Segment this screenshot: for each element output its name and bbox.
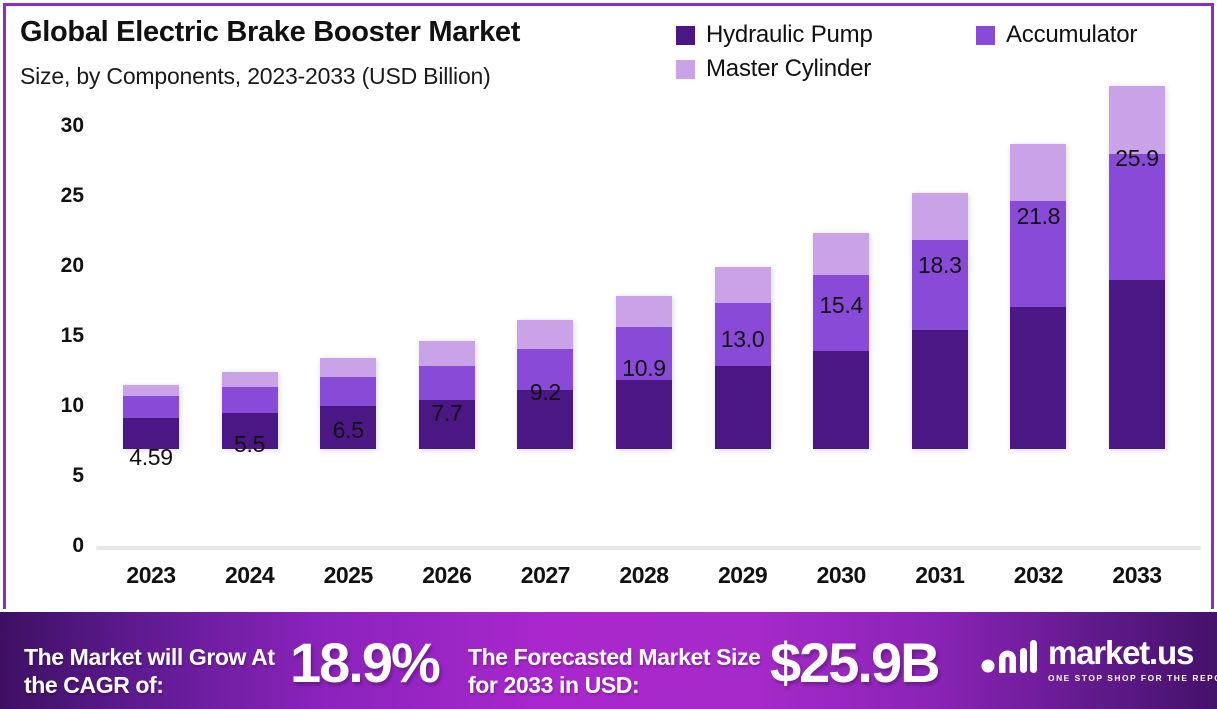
stacked-bar[interactable] (1109, 86, 1165, 449)
bar-value-label: 25.9 (1115, 145, 1159, 172)
bar-segment[interactable] (715, 267, 771, 303)
forecast-caption: The Forecasted Market Size for 2033 in U… (468, 643, 768, 699)
bar-value-label: 10.9 (622, 355, 666, 382)
bar-group[interactable] (1010, 144, 1066, 449)
bar-segment[interactable] (320, 358, 376, 377)
bar-segment[interactable] (912, 193, 968, 240)
bar-value-label: 9.2 (530, 379, 561, 406)
bar-segment[interactable] (517, 320, 573, 349)
bar-value-label: 13.0 (721, 326, 765, 353)
bar-segment[interactable] (1010, 144, 1066, 201)
bar-segment[interactable] (813, 233, 869, 275)
y-axis-tick: 25 (61, 184, 84, 208)
stacked-bar-chart: 0510152025304.5920235.520246.520257.7202… (0, 0, 1217, 612)
bar-segment[interactable] (123, 385, 179, 396)
bar-group[interactable] (1109, 86, 1165, 449)
bar-segment[interactable] (813, 351, 869, 449)
bar-segment[interactable] (419, 366, 475, 400)
y-axis-tick: 5 (72, 464, 84, 488)
bar-group[interactable] (912, 193, 968, 449)
x-axis-tick: 2033 (1077, 562, 1197, 589)
logo-tagline: ONE STOP SHOP FOR THE REPORTS (1048, 673, 1217, 683)
bar-value-label: 5.5 (234, 431, 265, 458)
stacked-bar[interactable] (123, 385, 179, 449)
bar-segment[interactable] (1010, 307, 1066, 449)
bar-group[interactable] (813, 233, 869, 449)
bar-segment[interactable] (320, 377, 376, 406)
bar-segment[interactable] (715, 366, 771, 449)
bar-segment[interactable] (616, 380, 672, 449)
bar-group[interactable] (123, 385, 179, 449)
bar-segment[interactable] (222, 372, 278, 387)
stacked-bar[interactable] (813, 233, 869, 449)
bar-value-label: 6.5 (333, 417, 364, 444)
bar-group[interactable] (715, 267, 771, 449)
market-us-logo-icon (980, 640, 1038, 679)
y-axis-tick: 20 (61, 254, 84, 278)
bar-value-label: 7.7 (431, 400, 462, 427)
bar-value-label: 15.4 (819, 292, 863, 319)
stacked-bar[interactable] (912, 193, 968, 449)
cagr-caption: The Market will Grow At the CAGR of: (24, 643, 304, 699)
x-axis-line (96, 546, 1201, 550)
y-axis-tick: 10 (61, 394, 84, 418)
brand-logo[interactable]: market.us ONE STOP SHOP FOR THE REPORTS (980, 636, 1217, 683)
bar-segment[interactable] (1109, 86, 1165, 153)
bar-segment[interactable] (419, 341, 475, 366)
bar-segment[interactable] (123, 396, 179, 417)
bar-segment[interactable] (1109, 280, 1165, 449)
stacked-bar[interactable] (1010, 144, 1066, 449)
infographic-root: Global Electric Brake Booster Market Siz… (0, 0, 1217, 709)
logo-name: market.us (1048, 636, 1217, 669)
y-axis-tick: 0 (72, 534, 84, 558)
stacked-bar[interactable] (419, 341, 475, 449)
bar-value-label: 4.59 (129, 444, 173, 471)
cagr-value: 18.9% (290, 630, 439, 695)
logo-text: market.us ONE STOP SHOP FOR THE REPORTS (1048, 636, 1217, 683)
bar-segment[interactable] (1109, 154, 1165, 280)
bar-segment[interactable] (616, 296, 672, 327)
forecast-value: $25.9B (770, 630, 939, 695)
bar-value-label: 21.8 (1017, 203, 1061, 230)
bar-segment[interactable] (222, 387, 278, 412)
stacked-bar[interactable] (715, 267, 771, 449)
bar-value-label: 18.3 (918, 252, 962, 279)
y-axis-tick: 15 (61, 324, 84, 348)
bar-segment[interactable] (912, 330, 968, 449)
bar-group[interactable] (419, 341, 475, 449)
y-axis-tick: 30 (61, 114, 84, 138)
